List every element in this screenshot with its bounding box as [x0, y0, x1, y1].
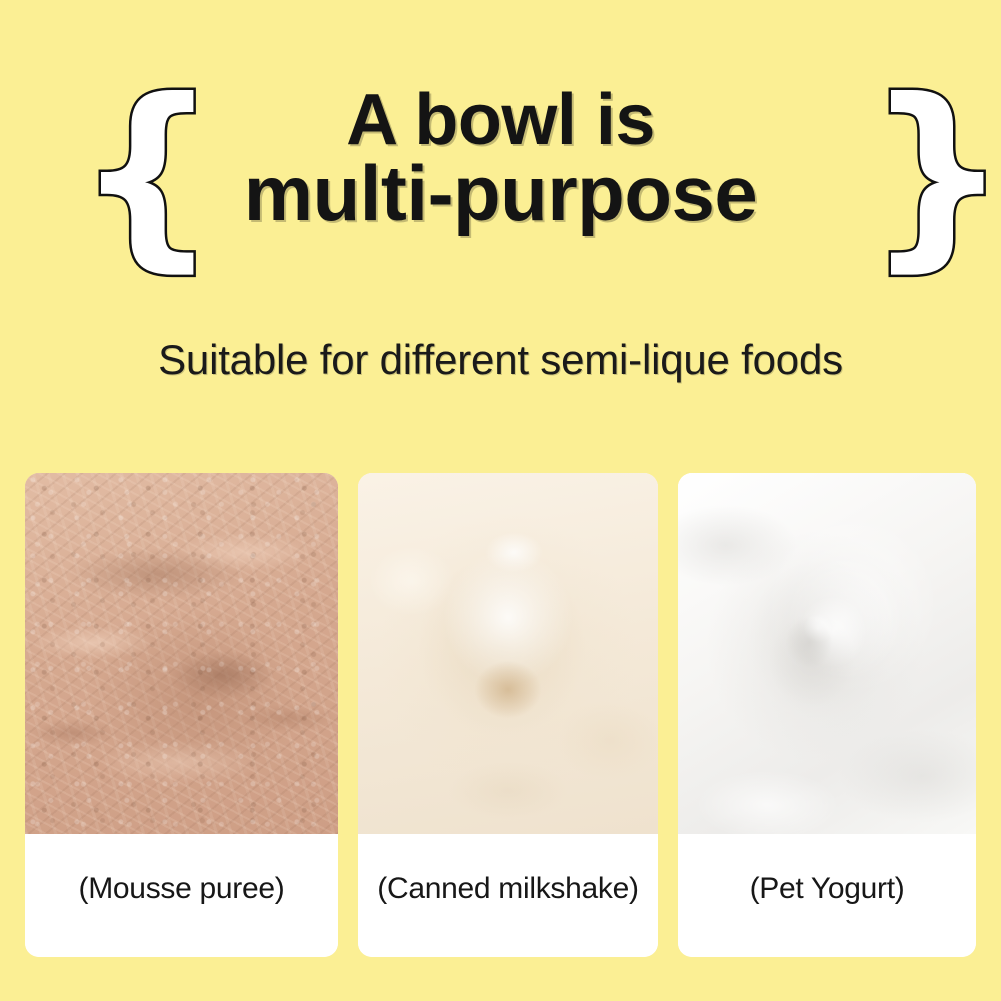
food-cards-row: (Mousse puree) (Canned milkshake) (Pet Y…	[25, 473, 976, 957]
pet-yogurt-caption-bar: (Pet Yogurt)	[678, 834, 976, 957]
title-line-two: multi-purpose	[0, 156, 1001, 230]
food-card-pet-yogurt: (Pet Yogurt)	[678, 473, 976, 957]
promo-poster: { } A bowl is multi-purpose Suitable for…	[0, 0, 1001, 1001]
canned-milkshake-photo	[358, 473, 658, 834]
food-card-canned-milkshake: (Canned milkshake)	[358, 473, 658, 957]
canned-milkshake-caption-bar: (Canned milkshake)	[358, 834, 658, 957]
mousse-puree-texture	[25, 473, 338, 834]
page-title: A bowl is multi-purpose	[0, 86, 1001, 230]
canned-milkshake-texture	[358, 473, 658, 834]
pet-yogurt-caption-label: (Pet Yogurt)	[750, 872, 905, 906]
pet-yogurt-texture	[678, 473, 976, 834]
mousse-puree-photo	[25, 473, 338, 834]
mousse-puree-caption-label: (Mousse puree)	[79, 872, 285, 906]
mousse-puree-caption-bar: (Mousse puree)	[25, 834, 338, 957]
title-line-one: A bowl is	[0, 86, 1001, 154]
food-card-mousse-puree: (Mousse puree)	[25, 473, 338, 957]
pet-yogurt-photo	[678, 473, 976, 834]
page-subtitle: Suitable for different semi-lique foods	[0, 336, 1001, 384]
header-block: { } A bowl is multi-purpose Suitable for…	[0, 0, 1001, 300]
canned-milkshake-caption-label: (Canned milkshake)	[377, 872, 638, 906]
